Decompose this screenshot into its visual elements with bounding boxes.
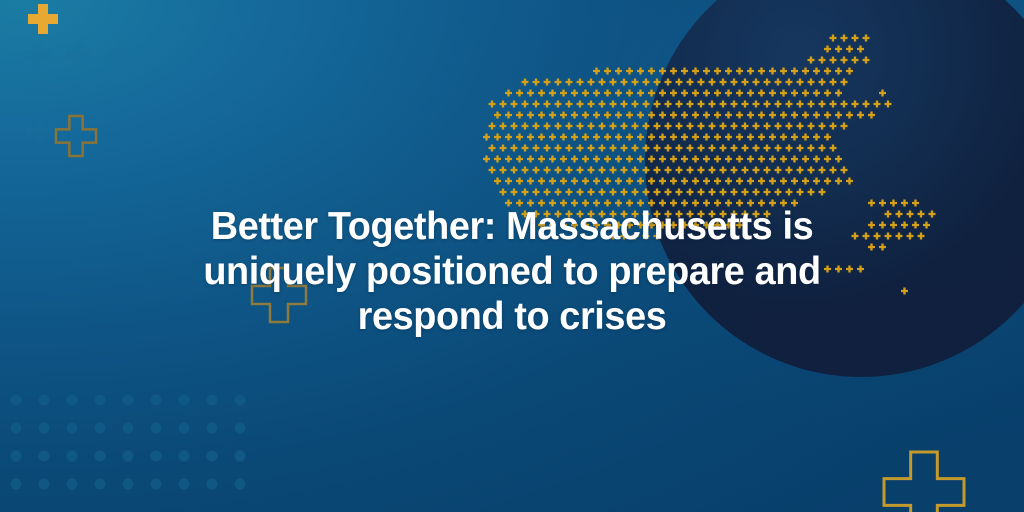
- hero-banner: Better Together: Massachusetts is unique…: [0, 0, 1024, 512]
- page-title: Better Together: Massachusetts is unique…: [15, 204, 1008, 339]
- headline-line-3: respond to crises: [15, 294, 1008, 339]
- headline-line-1: Better Together: Massachusetts is: [15, 204, 1008, 249]
- headline-line-2: uniquely positioned to prepare and: [15, 249, 1008, 294]
